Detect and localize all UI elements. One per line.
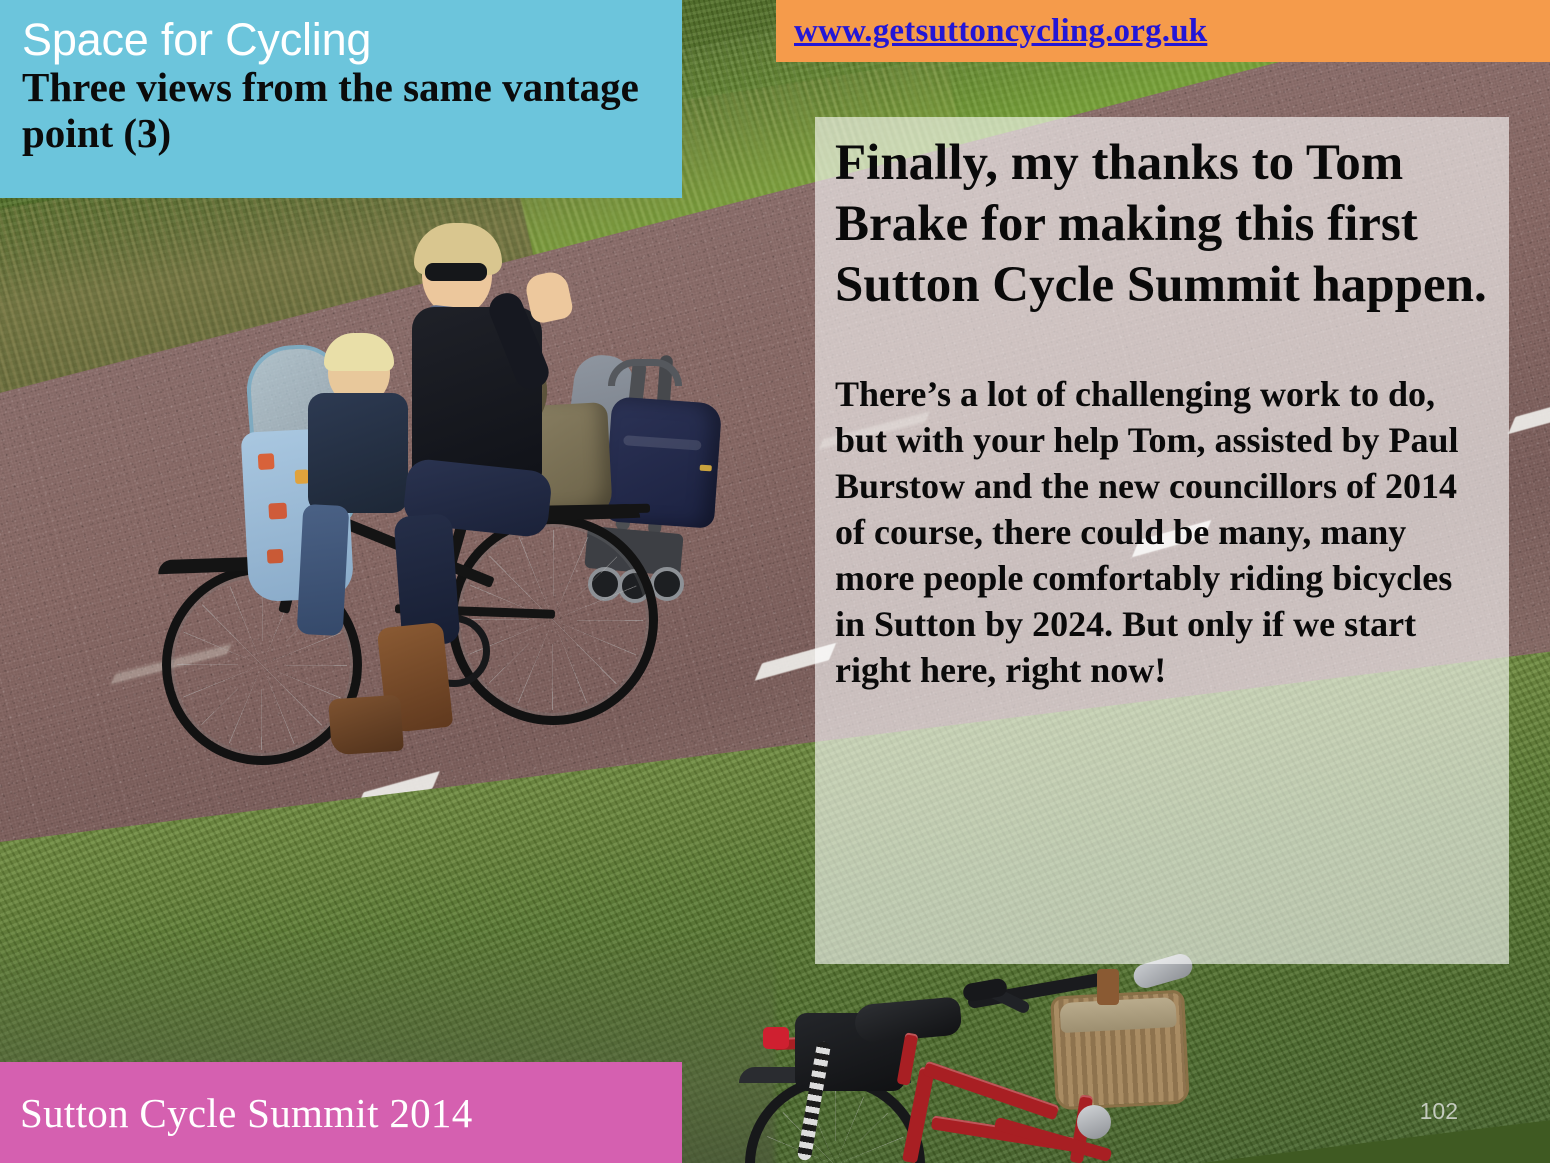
child-hair	[324, 333, 394, 371]
website-url-link[interactable]: www.getsuttoncycling.org.uk	[794, 13, 1207, 50]
bike-rear-wheel	[448, 515, 658, 725]
title-block: Space for Cycling Three views from the s…	[0, 0, 682, 198]
parked-bike-top-tube	[922, 1061, 1059, 1121]
rider-sunglasses	[425, 263, 487, 281]
wicker-front-basket	[1050, 990, 1190, 1111]
page-title: Space for Cycling	[22, 16, 682, 63]
footer-bar: Sutton Cycle Summit 2014	[0, 1062, 682, 1163]
basket-strap	[1097, 969, 1119, 1005]
page-number: 102	[1420, 1098, 1458, 1125]
child-body	[308, 393, 408, 513]
panel-heading: Finally, my thanks to Tom Brake for maki…	[835, 133, 1489, 317]
page-subtitle: Three views from the same vantage point …	[22, 65, 677, 157]
rear-light	[763, 1027, 789, 1049]
parked-bicycles-foreground	[745, 955, 1205, 1163]
child-leg	[297, 504, 350, 636]
footer-label: Sutton Cycle Summit 2014	[20, 1089, 473, 1137]
cyclist-photo-subject	[150, 215, 710, 760]
website-url-bar: www.getsuttoncycling.org.uk	[776, 0, 1550, 62]
message-panel: Finally, my thanks to Tom Brake for maki…	[815, 117, 1509, 964]
panel-body-text: There’s a lot of challenging work to do,…	[835, 371, 1489, 694]
dynamo-hub	[1077, 1105, 1111, 1139]
slide-canvas: Space for Cycling Three views from the s…	[0, 0, 1550, 1163]
rider-boot-rear	[328, 695, 404, 756]
